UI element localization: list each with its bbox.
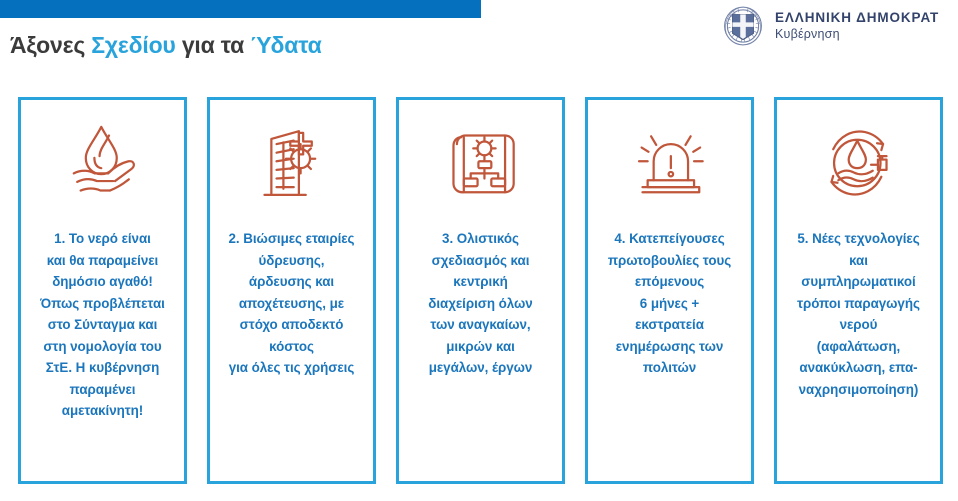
water-recycling-faucet-icon bbox=[816, 114, 902, 212]
government-name: ΕΛΛΗΝΙΚΗ ΔΗΜΟΚΡΑΤ bbox=[775, 9, 939, 26]
pillar-cards-row: 1. Το νερό είναι και θα παραμείνει δημόσ… bbox=[18, 97, 943, 484]
pillar-card-3: 3. Ολιστικός σχεδιασμός και κεντρική δια… bbox=[396, 97, 565, 484]
greek-coat-of-arms-icon bbox=[720, 3, 766, 49]
pillar-card-4-text: 4. Κατεπείγουσες πρωτοβουλίες τους επόμε… bbox=[608, 228, 731, 379]
alarm-siren-exclamation-icon bbox=[627, 114, 713, 212]
government-logo-text: ΕΛΛΗΝΙΚΗ ΔΗΜΟΚΡΑΤ Κυβέρνηση bbox=[775, 9, 939, 43]
pillar-card-5-text: 5. Νέες τεχνολογίες και συμπληρωματικοί … bbox=[797, 228, 920, 400]
page-title-part-3: για τα bbox=[176, 32, 251, 58]
page-title-part-4: Ύδατα bbox=[250, 32, 321, 58]
pillar-card-1: 1. Το νερό είναι και θα παραμείνει δημόσ… bbox=[18, 97, 187, 484]
page-title-part-2: Σχεδίου bbox=[91, 32, 175, 58]
water-drop-in-hand-icon bbox=[60, 114, 146, 212]
building-with-gear-icon bbox=[249, 114, 335, 212]
pillar-card-2-text: 2. Βιώσιμες εταιρίες ύδρευσης, άρδευσης … bbox=[229, 228, 355, 379]
top-accent-bar bbox=[0, 0, 481, 18]
government-subtitle: Κυβέρνηση bbox=[775, 26, 939, 43]
blueprint-org-chart-gear-icon bbox=[438, 114, 524, 212]
pillar-card-3-text: 3. Ολιστικός σχεδιασμός και κεντρική δια… bbox=[428, 228, 532, 379]
pillar-card-5: 5. Νέες τεχνολογίες και συμπληρωματικοί … bbox=[774, 97, 943, 484]
government-logo: ΕΛΛΗΝΙΚΗ ΔΗΜΟΚΡΑΤ Κυβέρνηση bbox=[720, 3, 958, 49]
pillar-card-4: 4. Κατεπείγουσες πρωτοβουλίες τους επόμε… bbox=[585, 97, 754, 484]
pillar-card-2: 2. Βιώσιμες εταιρίες ύδρευσης, άρδευσης … bbox=[207, 97, 376, 484]
pillar-card-1-text: 1. Το νερό είναι και θα παραμείνει δημόσ… bbox=[40, 228, 165, 422]
page-title-part-1: Άξονες bbox=[10, 32, 91, 58]
page-title: Άξονες Σχεδίου για τα Ύδατα bbox=[10, 32, 322, 59]
